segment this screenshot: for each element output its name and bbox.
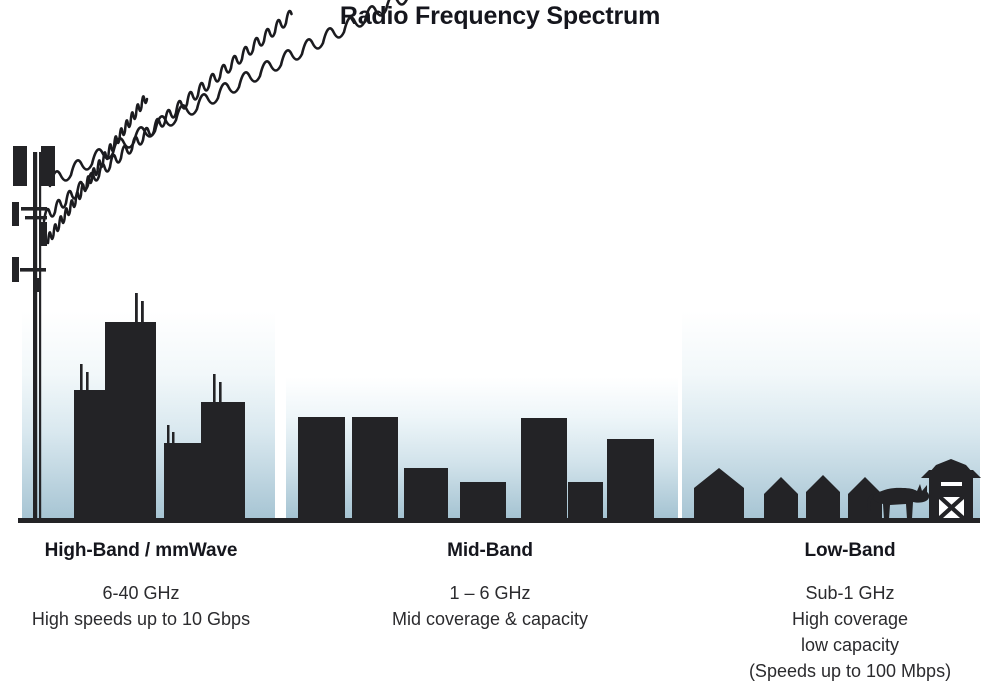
barn-door-frame bbox=[936, 494, 967, 521]
tower-cross-arm-lower bbox=[20, 268, 46, 272]
hb-building-3-spire-b bbox=[172, 432, 175, 445]
hb-building-2 bbox=[105, 322, 156, 520]
hb-building-1-spire-a bbox=[80, 364, 83, 392]
band-detail-low-band-0: Sub-1 GHz bbox=[700, 580, 1000, 606]
band-column-high-band: High-Band / mmWave 6-40 GHz High speeds … bbox=[0, 540, 282, 632]
scene-low-band-farm bbox=[694, 459, 981, 521]
hb-building-2-spire-b bbox=[141, 301, 144, 323]
band-detail-low-band-1: High coverage bbox=[700, 606, 1000, 632]
mb-building-1 bbox=[298, 417, 345, 520]
hb-building-3 bbox=[164, 443, 204, 520]
hb-building-3-spire-a bbox=[167, 425, 170, 445]
hb-building-4-spire-b bbox=[219, 382, 222, 404]
panel-antenna-right bbox=[41, 146, 55, 186]
side-antenna-mid bbox=[40, 222, 47, 246]
sky-panel-mid-band bbox=[286, 377, 678, 520]
lb-barn bbox=[921, 459, 981, 521]
band-column-mid-band: Mid-Band 1 – 6 GHz Mid coverage & capaci… bbox=[340, 540, 640, 632]
cow-body bbox=[872, 484, 929, 519]
band-detail-mid-band-1: Mid coverage & capacity bbox=[340, 606, 640, 632]
band-labels: High-Band / mmWave 6-40 GHz High speeds … bbox=[0, 540, 1000, 700]
band-detail-high-band-1: High speeds up to 10 Gbps bbox=[0, 606, 282, 632]
barn-hayloft-window bbox=[941, 482, 962, 486]
ground-baseline bbox=[18, 518, 980, 523]
hb-building-1-spire-b bbox=[86, 372, 89, 392]
band-detail-mid-band-0: 1 – 6 GHz bbox=[340, 580, 640, 606]
tower-cross-arm-upper-2 bbox=[25, 216, 47, 219]
mb-building-5 bbox=[521, 418, 567, 520]
cow-tail bbox=[867, 494, 874, 511]
sky-panel-low-band bbox=[682, 311, 980, 520]
side-antenna-lower bbox=[12, 257, 19, 282]
side-antenna-upper bbox=[12, 202, 19, 226]
tower-cross-arm-upper bbox=[21, 207, 47, 211]
medium-wavelength-wave bbox=[44, 11, 292, 221]
page-title: Radio Frequency Spectrum bbox=[0, 2, 1000, 31]
barn-roof bbox=[929, 459, 973, 521]
mb-building-7 bbox=[607, 439, 654, 520]
sky-panels bbox=[22, 311, 980, 520]
barn-door-cross-2 bbox=[939, 497, 964, 518]
band-title-low-band: Low-Band bbox=[700, 540, 1000, 562]
barn-door bbox=[936, 494, 967, 521]
panel-antenna-left bbox=[13, 146, 27, 186]
radio-waves bbox=[44, 0, 523, 243]
hb-building-4-spire-a bbox=[213, 374, 216, 404]
tower-foot-brace bbox=[36, 278, 39, 292]
barn-door-cross bbox=[939, 497, 964, 518]
mb-building-2 bbox=[352, 417, 398, 520]
band-detail-high-band-0: 6-40 GHz bbox=[0, 580, 282, 606]
lb-house-2 bbox=[764, 477, 798, 520]
barn-eaves bbox=[921, 470, 981, 478]
band-column-low-band: Low-Band Sub-1 GHz High coverage low cap… bbox=[700, 540, 1000, 684]
band-title-mid-band: Mid-Band bbox=[340, 540, 640, 562]
lb-cow bbox=[867, 484, 929, 519]
tower-mast-left bbox=[33, 152, 37, 520]
cell-tower bbox=[12, 146, 55, 520]
lb-house-1 bbox=[694, 468, 744, 520]
mb-building-3 bbox=[404, 468, 448, 520]
lb-house-3 bbox=[806, 475, 840, 520]
sky-panel-high-band bbox=[22, 311, 275, 520]
hb-building-2-spire-a bbox=[135, 293, 138, 323]
scene-high-band-skyline bbox=[74, 293, 245, 520]
scene-mid-band-blocks bbox=[298, 417, 654, 520]
tower-mast-right bbox=[39, 152, 41, 520]
band-detail-low-band-2: low capacity bbox=[700, 632, 1000, 658]
short-wavelength-wave bbox=[48, 96, 147, 243]
mb-building-4 bbox=[460, 482, 506, 520]
hb-building-1 bbox=[74, 390, 116, 520]
infographic-canvas: Radio Frequency Spectrum bbox=[0, 0, 1000, 700]
hb-building-4 bbox=[201, 402, 245, 520]
lb-house-4 bbox=[848, 477, 882, 520]
band-title-high-band: High-Band / mmWave bbox=[0, 540, 282, 562]
band-detail-low-band-3: (Speeds up to 100 Mbps) bbox=[700, 658, 1000, 684]
mb-building-6 bbox=[568, 482, 603, 520]
